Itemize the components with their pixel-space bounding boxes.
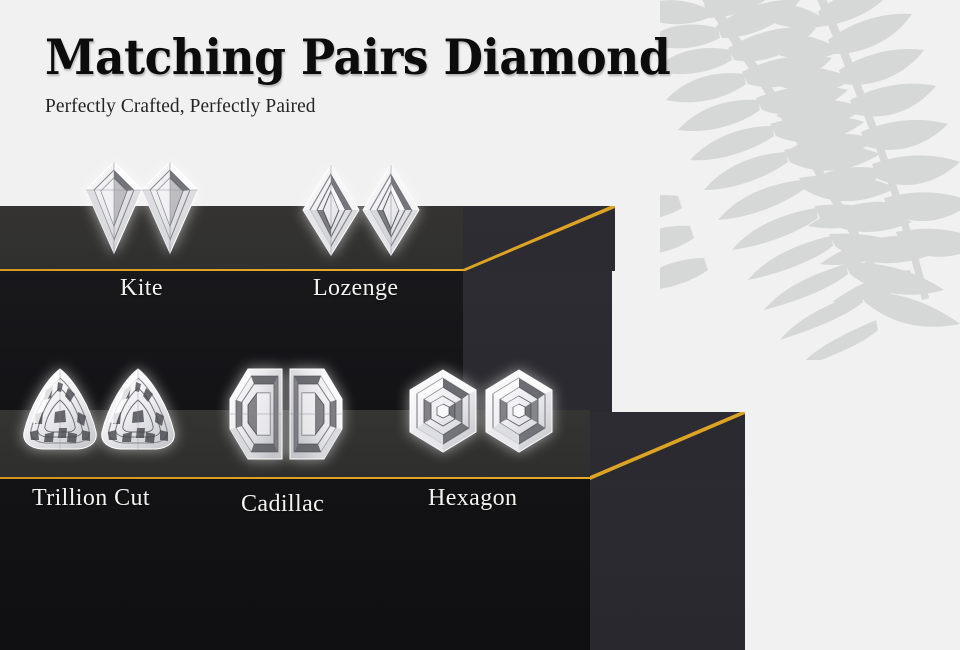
gem-pair-lozenge[interactable] xyxy=(300,163,422,257)
lozenge-diamond-icon xyxy=(300,163,362,257)
cut-label-hexagon: Hexagon xyxy=(428,484,517,512)
gem-pair-cadillac[interactable] xyxy=(228,366,344,462)
cut-label-trillion: Trillion Cut xyxy=(32,484,150,512)
gem-pair-kite[interactable] xyxy=(84,160,200,255)
header-block: Matching Pairs Diamond Perfectly Crafted… xyxy=(45,30,717,118)
page-subtitle: Perfectly Crafted, Perfectly Paired xyxy=(45,94,697,118)
upper-podium-gold-edge xyxy=(0,269,463,271)
cut-label-lozenge: Lozenge xyxy=(313,274,398,302)
page-title: Matching Pairs Diamond xyxy=(45,30,670,84)
lozenge-diamond-icon xyxy=(360,163,422,257)
gem-pair-trillion[interactable] xyxy=(20,366,178,452)
hexagon-diamond-icon xyxy=(480,368,558,454)
upper-podium-bevel-edge xyxy=(463,206,615,271)
cadillac-diamond-icon xyxy=(228,366,286,462)
cadillac-diamond-icon xyxy=(286,366,344,462)
trillion-diamond-icon xyxy=(98,366,178,452)
kite-diamond-icon xyxy=(140,160,200,255)
poster-canvas: Matching Pairs Diamond Perfectly Crafted… xyxy=(0,0,960,650)
trillion-diamond-icon xyxy=(20,366,100,452)
cut-label-kite: Kite xyxy=(120,274,163,302)
hexagon-diamond-icon xyxy=(404,368,482,454)
cut-label-cadillac: Cadillac xyxy=(241,490,324,518)
kite-diamond-icon xyxy=(84,160,144,255)
gem-pair-hexagon[interactable] xyxy=(404,368,558,454)
lower-podium-bevel-edge xyxy=(590,412,745,480)
lower-podium-gold-edge xyxy=(0,477,590,479)
